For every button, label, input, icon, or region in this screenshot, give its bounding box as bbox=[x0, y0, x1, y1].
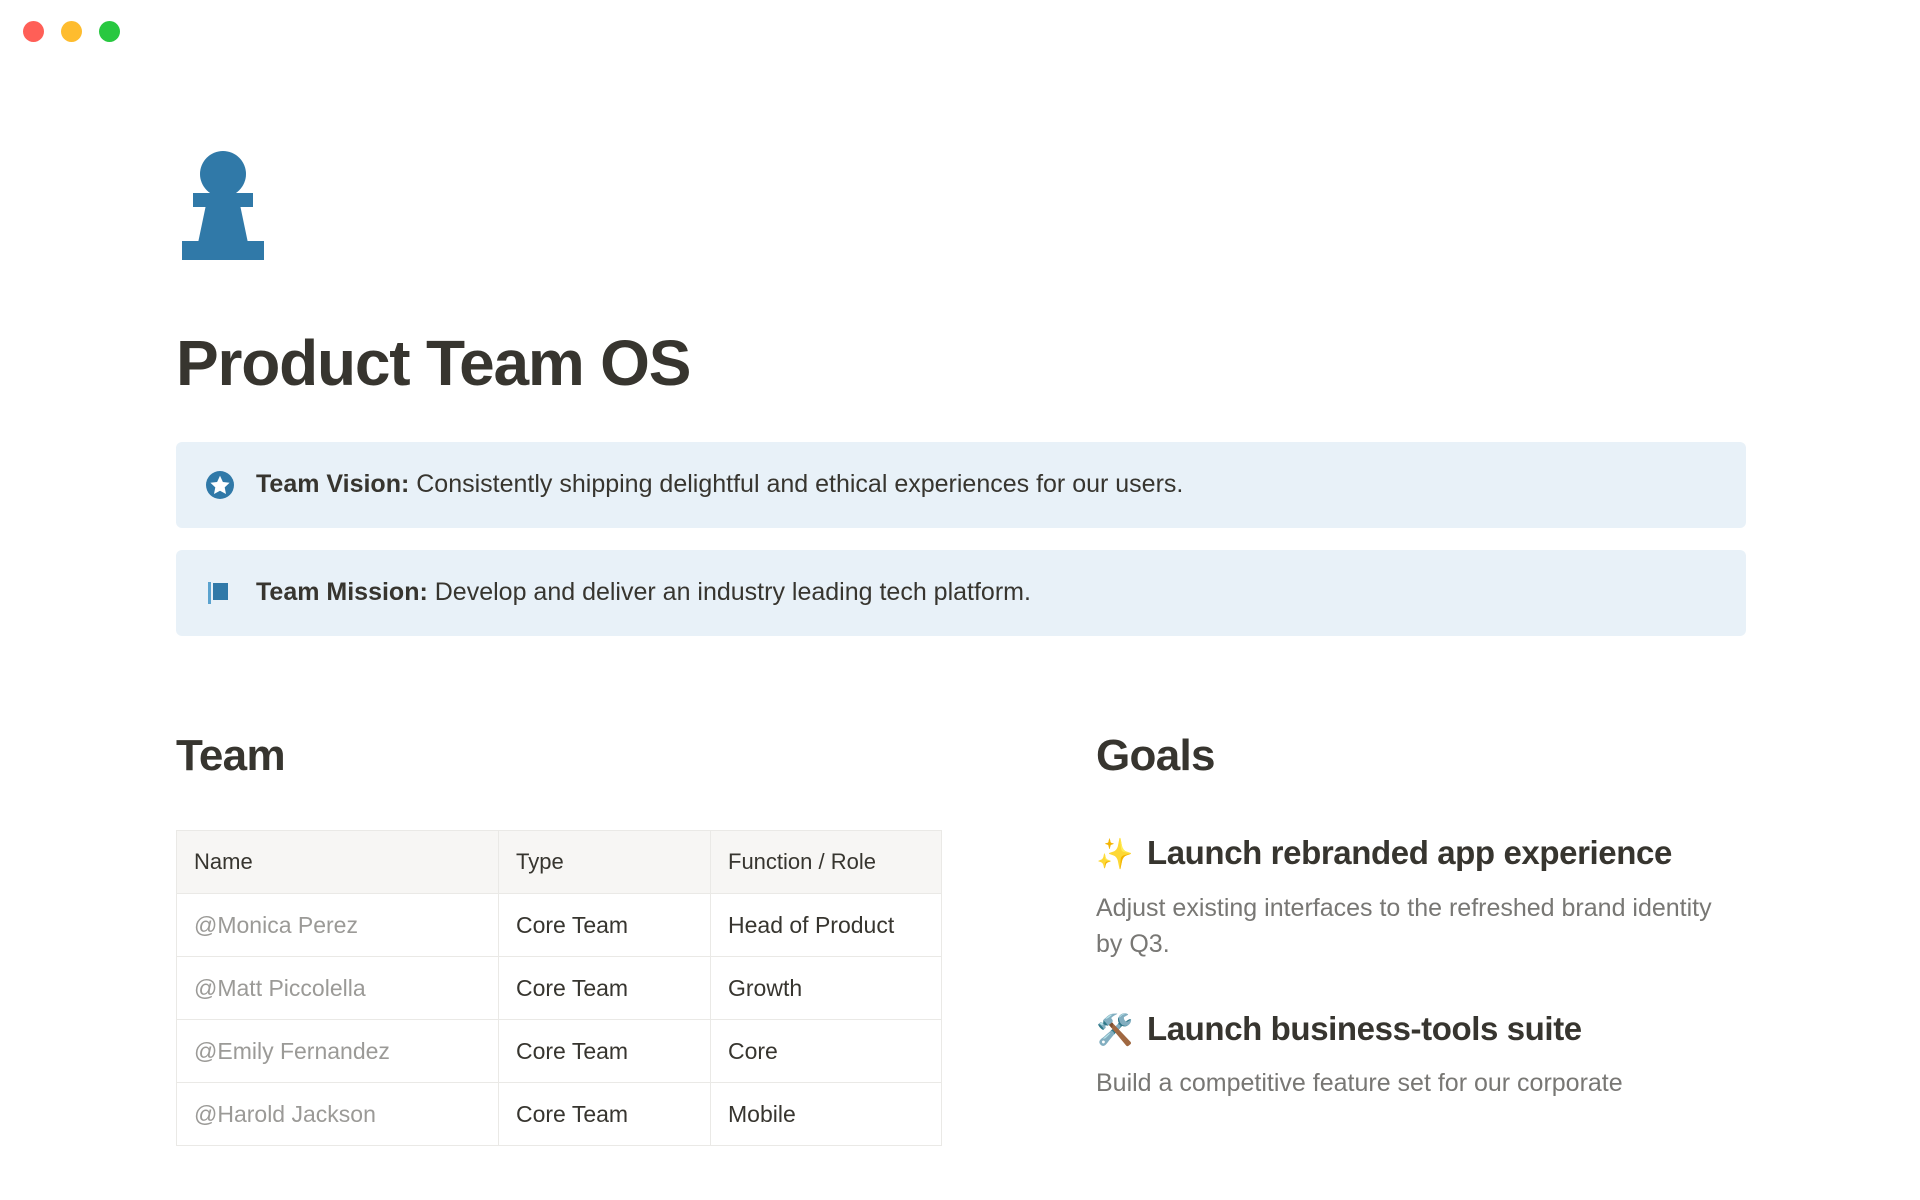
goal-description: Adjust existing interfaces to the refres… bbox=[1096, 890, 1741, 963]
hammer-and-wrench-emoji: 🛠️ bbox=[1096, 1016, 1133, 1046]
team-mission-callout: Team Mission: Develop and deliver an ind… bbox=[176, 550, 1746, 636]
team-mission-text: Team Mission: Develop and deliver an ind… bbox=[256, 576, 1031, 610]
table-header-row: Name Type Function / Role bbox=[177, 831, 942, 894]
team-mission-label: Team Mission: bbox=[256, 578, 428, 606]
cell-type[interactable]: Core Team bbox=[499, 957, 711, 1020]
cell-role[interactable]: Growth bbox=[711, 957, 942, 1020]
team-vision-body: Consistently shipping delightful and eth… bbox=[409, 470, 1183, 498]
close-button[interactable] bbox=[23, 21, 44, 42]
chess-pawn-icon[interactable] bbox=[176, 148, 270, 260]
team-vision-text: Team Vision: Consistently shipping delig… bbox=[256, 468, 1183, 502]
minimize-button[interactable] bbox=[61, 21, 82, 42]
team-section: Team Name Type Function / Role bbox=[176, 732, 936, 1146]
goal-item: 🛠️ Launch business-tools suite Build a c… bbox=[1096, 1008, 1744, 1102]
table-row[interactable]: @Emily Fernandez Core Team Core bbox=[177, 1020, 942, 1083]
flag-icon bbox=[204, 577, 236, 609]
maximize-button[interactable] bbox=[99, 21, 120, 42]
cell-type[interactable]: Core Team bbox=[499, 1083, 711, 1146]
app-window: Product Team OS Team Vision: Consistentl… bbox=[0, 0, 1920, 1200]
table-row[interactable]: @Monica Perez Core Team Head of Product bbox=[177, 894, 942, 957]
callout-group: Team Vision: Consistently shipping delig… bbox=[176, 442, 1744, 636]
table-row[interactable]: @Matt Piccolella Core Team Growth bbox=[177, 957, 942, 1020]
goal-title: Launch business-tools suite bbox=[1147, 1008, 1582, 1049]
team-section-heading: Team bbox=[176, 732, 936, 780]
goals-section: Goals ✨ Launch rebranded app experience … bbox=[1096, 732, 1744, 1146]
column-header-type[interactable]: Type bbox=[499, 831, 711, 894]
column-header-name[interactable]: Name bbox=[177, 831, 499, 894]
column-header-role[interactable]: Function / Role bbox=[711, 831, 942, 894]
team-vision-label: Team Vision: bbox=[256, 470, 409, 498]
content-columns: Team Name Type Function / Role bbox=[176, 732, 1744, 1146]
goal-description: Build a competitive feature set for our … bbox=[1096, 1065, 1741, 1101]
cell-name[interactable]: @Harold Jackson bbox=[177, 1083, 499, 1146]
star-circle-icon bbox=[204, 469, 236, 501]
team-table-header: Name Type Function / Role bbox=[177, 831, 942, 894]
cell-role[interactable]: Mobile bbox=[711, 1083, 942, 1146]
page-title: Product Team OS bbox=[176, 328, 1744, 398]
cell-name[interactable]: @Monica Perez bbox=[177, 894, 499, 957]
team-vision-callout: Team Vision: Consistently shipping delig… bbox=[176, 442, 1746, 528]
cell-role[interactable]: Core bbox=[711, 1020, 942, 1083]
cell-type[interactable]: Core Team bbox=[499, 1020, 711, 1083]
sparkles-emoji: ✨ bbox=[1096, 840, 1133, 870]
goal-title-row: ✨ Launch rebranded app experience bbox=[1096, 832, 1744, 873]
cell-name[interactable]: @Matt Piccolella bbox=[177, 957, 499, 1020]
goal-item: ✨ Launch rebranded app experience Adjust… bbox=[1096, 832, 1744, 962]
team-table-body: @Monica Perez Core Team Head of Product … bbox=[177, 894, 942, 1146]
window-titlebar bbox=[0, 0, 1920, 62]
team-table: Name Type Function / Role @Monica Perez … bbox=[176, 830, 942, 1146]
cell-role[interactable]: Head of Product bbox=[711, 894, 942, 957]
cell-name[interactable]: @Emily Fernandez bbox=[177, 1020, 499, 1083]
goal-title-row: 🛠️ Launch business-tools suite bbox=[1096, 1008, 1744, 1049]
table-row[interactable]: @Harold Jackson Core Team Mobile bbox=[177, 1083, 942, 1146]
traffic-light-group bbox=[23, 21, 120, 42]
cell-type[interactable]: Core Team bbox=[499, 894, 711, 957]
goal-title: Launch rebranded app experience bbox=[1147, 832, 1672, 873]
team-mission-body: Develop and deliver an industry leading … bbox=[428, 578, 1031, 606]
page-content: Product Team OS Team Vision: Consistentl… bbox=[0, 62, 1920, 1146]
goals-section-heading: Goals bbox=[1096, 732, 1744, 780]
